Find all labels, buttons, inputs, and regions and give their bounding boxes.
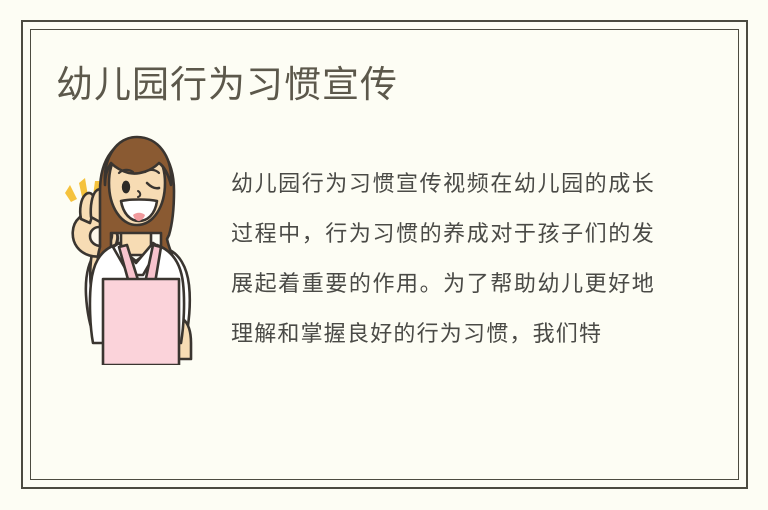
page-title: 幼儿园行为习惯宣传: [56, 62, 398, 108]
pink-apron: [103, 279, 179, 365]
cartoon-teacher-illustration: [55, 133, 215, 365]
open-eye: [122, 181, 130, 194]
article-body-text: 幼儿园行为习惯宣传视频在幼儿园的成长过程中，行为习惯的养成对于孩子们的发展起着重…: [231, 160, 655, 360]
cartoon-teacher-svg: [55, 133, 215, 365]
poster-page: 幼儿园行为习惯宣传: [0, 0, 768, 510]
